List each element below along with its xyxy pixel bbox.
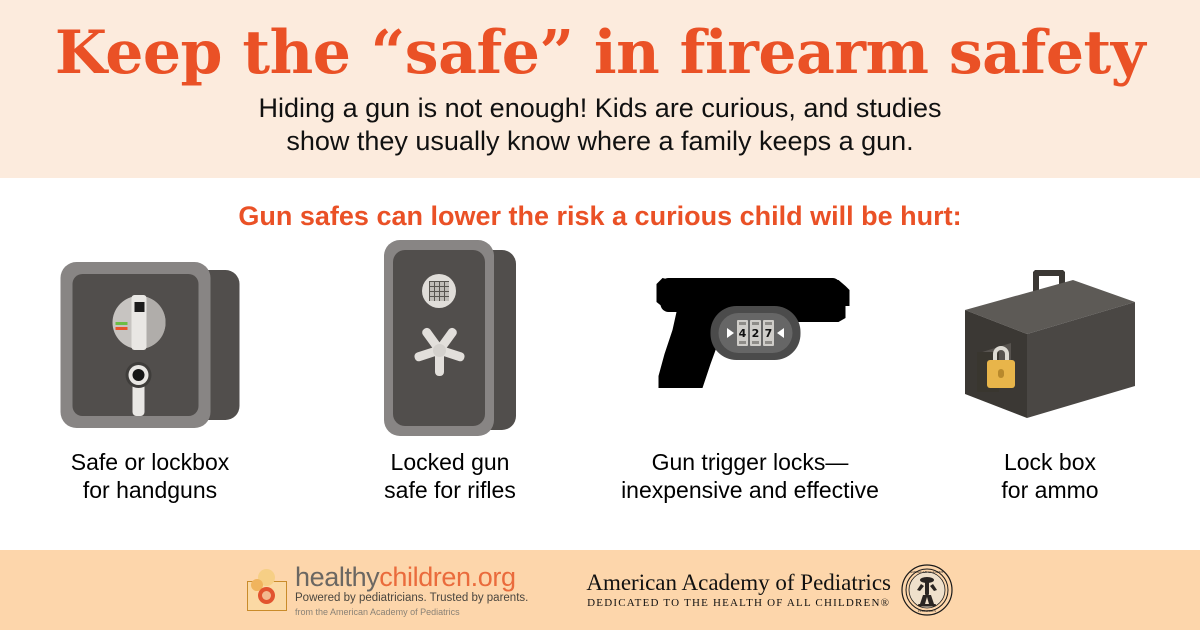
metal-box-shape [955,258,1145,428]
rifle-safe-outer-shell [384,240,494,436]
caption-line-2: for ammo [1001,476,1098,504]
healthychildren-tagline: Powered by pediatricians. Trusted by par… [295,591,528,606]
page-subtitle: Hiding a gun is not enough! Kids are cur… [0,92,1200,158]
safety-options-row: Safe or lockbox for handguns [0,240,1200,540]
aap-seal-icon: AMERICAN ACADEMY PEDIATRICS [901,564,953,616]
dial-arrow-left-icon [727,328,734,338]
caption-line-2: inexpensive and effective [621,476,879,504]
option-art [300,240,600,440]
header-band: Keep the “safe” in firearm safety Hiding… [0,0,1200,178]
combination-dials: 4 2 7 [727,320,784,346]
dial-indicator-green [116,322,128,325]
combination-lock-icon: 4 2 7 [711,306,801,360]
caption-line-1: Locked gun [391,449,510,475]
dial-arrow-right-icon [777,328,784,338]
footer-bar: healthychildren.org Powered by pediatric… [0,550,1200,630]
healthychildren-logo[interactable]: healthychildren.org Powered by pediatric… [247,563,528,618]
caption-line-2: safe for rifles [384,476,516,504]
dial-indicator-red [116,327,128,330]
main-content: Gun safes can lower the risk a curious c… [0,178,1200,550]
combination-digit: 2 [750,320,761,346]
safe-keyhole-icon [126,362,152,388]
caption-line-1: Gun trigger locks— [652,449,849,475]
option-card-safe-lockbox: Safe or lockbox for handguns [0,240,300,540]
healthychildren-envelope-icon [247,569,287,611]
option-card-gun-trigger-lock: 4 2 7 [600,240,900,540]
combination-digit: 7 [763,320,774,346]
caption-line-1: Safe or lockbox [71,449,230,475]
option-art: 4 2 7 [600,240,900,440]
combination-digit: 4 [737,320,748,346]
page-title: Keep the “safe” in firearm safety [0,20,1200,86]
ammo-lock-box-icon [955,258,1145,428]
section-heading: Gun safes can lower the risk a curious c… [0,201,1200,232]
option-art [900,240,1200,440]
option-caption: Locked gun safe for rifles [384,448,516,504]
safe-lockbox-icon [53,262,248,428]
subtitle-line-2: show they usually know where a family ke… [0,125,1200,158]
option-caption: Lock box for ammo [1001,448,1098,504]
svg-text:AMERICAN ACADEMY: AMERICAN ACADEMY [910,570,944,574]
aap-logo[interactable]: American Academy of Pediatrics DEDICATED… [586,564,953,616]
rifle-safe-door [393,250,485,426]
locked-gun-safe-icon [384,240,516,437]
healthychildren-wordmark: healthychildren.org [295,563,528,591]
aap-tagline: DEDICATED TO THE HEALTH OF ALL CHILDREN® [587,596,890,611]
caption-line-2: for handguns [71,476,230,504]
safe-wheel-handle-icon [411,322,467,378]
svg-text:PEDIATRICS: PEDIATRICS [918,609,936,613]
option-art [0,240,300,440]
option-caption: Gun trigger locks— inexpensive and effec… [621,448,879,504]
option-caption: Safe or lockbox for handguns [71,448,230,504]
option-card-ammo-lock-box: Lock box for ammo [900,240,1200,540]
aap-name: American Academy of Pediatrics [586,570,891,596]
safe-outer-shell [61,262,211,428]
gun-trigger-lock-icon: 4 2 7 [643,250,858,400]
keypad-icon [422,274,456,308]
padlock-icon [987,346,1015,388]
infographic-poster: Keep the “safe” in firearm safety Hiding… [0,0,1200,630]
safe-dial-icon [113,296,166,349]
subtitle-line-1: Hiding a gun is not enough! Kids are cur… [259,93,942,123]
option-card-locked-gun-safe: Locked gun safe for rifles [300,240,600,540]
caption-line-1: Lock box [1004,449,1096,475]
healthychildren-attribution: from the American Academy of Pediatrics [295,606,528,618]
safe-door [73,274,199,416]
